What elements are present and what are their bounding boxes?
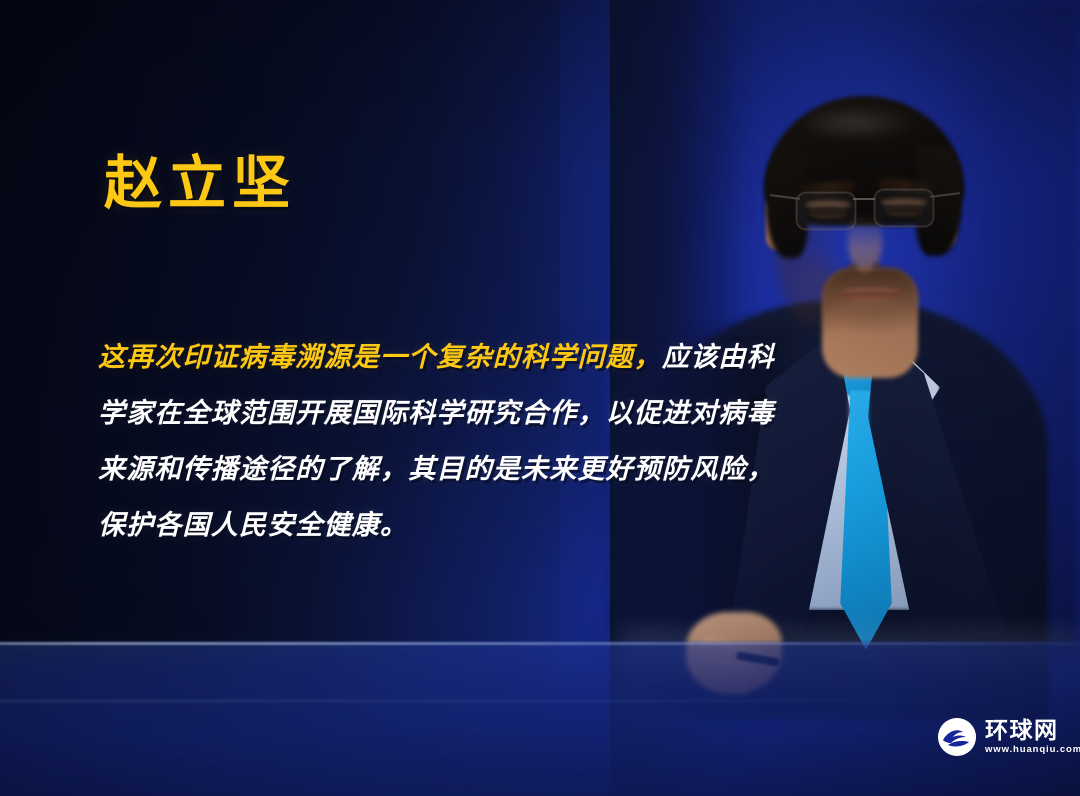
- logo-url: www.huanqiu.com: [985, 744, 1080, 756]
- quote-line: 保护各国人民安全健康。: [98, 498, 738, 554]
- logo-name-cn: 环球网: [985, 719, 1080, 744]
- quote-card: 赵立坚 这再次印证病毒溯源是一个复杂的科学问题，应该由科 学家在全球范围开展国际…: [0, 0, 1080, 796]
- eyeglass-lens-left: [796, 192, 856, 230]
- eyeglass-bridge: [853, 198, 875, 200]
- logo-text-group: 环球网 www.huanqiu.com: [985, 719, 1080, 756]
- quote-line-highlight: 这再次印证病毒溯源是一个复杂的科学问题，: [98, 342, 662, 373]
- quote-line-rest: 保护各国人民安全健康。: [98, 510, 408, 541]
- quote-line: 学家在全球范围开展国际科学研究合作，以促进对病毒: [98, 386, 738, 442]
- hair-highlight: [806, 106, 916, 140]
- mouth: [840, 288, 902, 301]
- quote-block: 这再次印证病毒溯源是一个复杂的科学问题，应该由科 学家在全球范围开展国际科学研究…: [98, 330, 738, 554]
- quote-line-rest: 学家在全球范围开展国际科学研究合作，以促进对病毒: [98, 398, 775, 429]
- podium: [0, 642, 1080, 796]
- podium-top-edge: [0, 642, 1080, 645]
- eyeglass-lens-right: [874, 189, 934, 227]
- nostril-left: [848, 264, 857, 270]
- chin-shadow: [828, 308, 914, 334]
- quote-line: 这再次印证病毒溯源是一个复杂的科学问题，应该由科: [98, 330, 738, 386]
- nostril-right: [872, 263, 881, 269]
- quote-line-rest: 应该由科: [662, 342, 775, 373]
- watermark-logo: 环球网 www.huanqiu.com: [938, 718, 1080, 756]
- quote-line-rest: 来源和传播途径的了解，其目的是未来更好预防风险，: [98, 454, 775, 485]
- speaker-name-headline: 赵立坚: [104, 136, 296, 220]
- podium-sheen: [0, 700, 1080, 702]
- globe-wave-icon: [938, 718, 976, 756]
- quote-line: 来源和传播途径的了解，其目的是未来更好预防风险，: [98, 442, 738, 498]
